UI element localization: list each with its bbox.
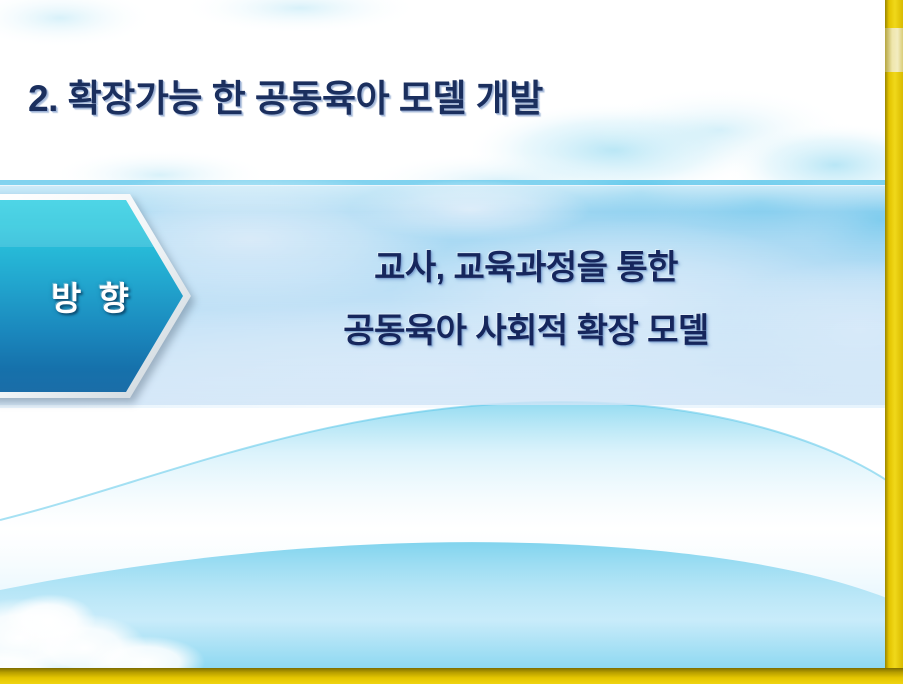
panel-text-line-1: 교사, 교육과정을 통한 bbox=[374, 240, 678, 289]
direction-badge-shape bbox=[0, 192, 193, 400]
slide-canvas: 2. 확장가능 한 공동육아 모델 개발 bbox=[0, 0, 903, 684]
page-title: 2. 확장가능 한 공동육아 모델 개발 bbox=[28, 68, 543, 122]
frame-bar-right-accent bbox=[885, 28, 903, 72]
frame-bar-right bbox=[885, 0, 903, 684]
sky-wave-curve-icon bbox=[0, 400, 903, 684]
frame-bar-bottom bbox=[0, 668, 903, 684]
panel-text-line-2: 공동육아 사회적 확장 모델 bbox=[343, 303, 708, 352]
panel-text-block: 교사, 교육과정을 통한 공동육아 사회적 확장 모델 bbox=[196, 196, 856, 396]
